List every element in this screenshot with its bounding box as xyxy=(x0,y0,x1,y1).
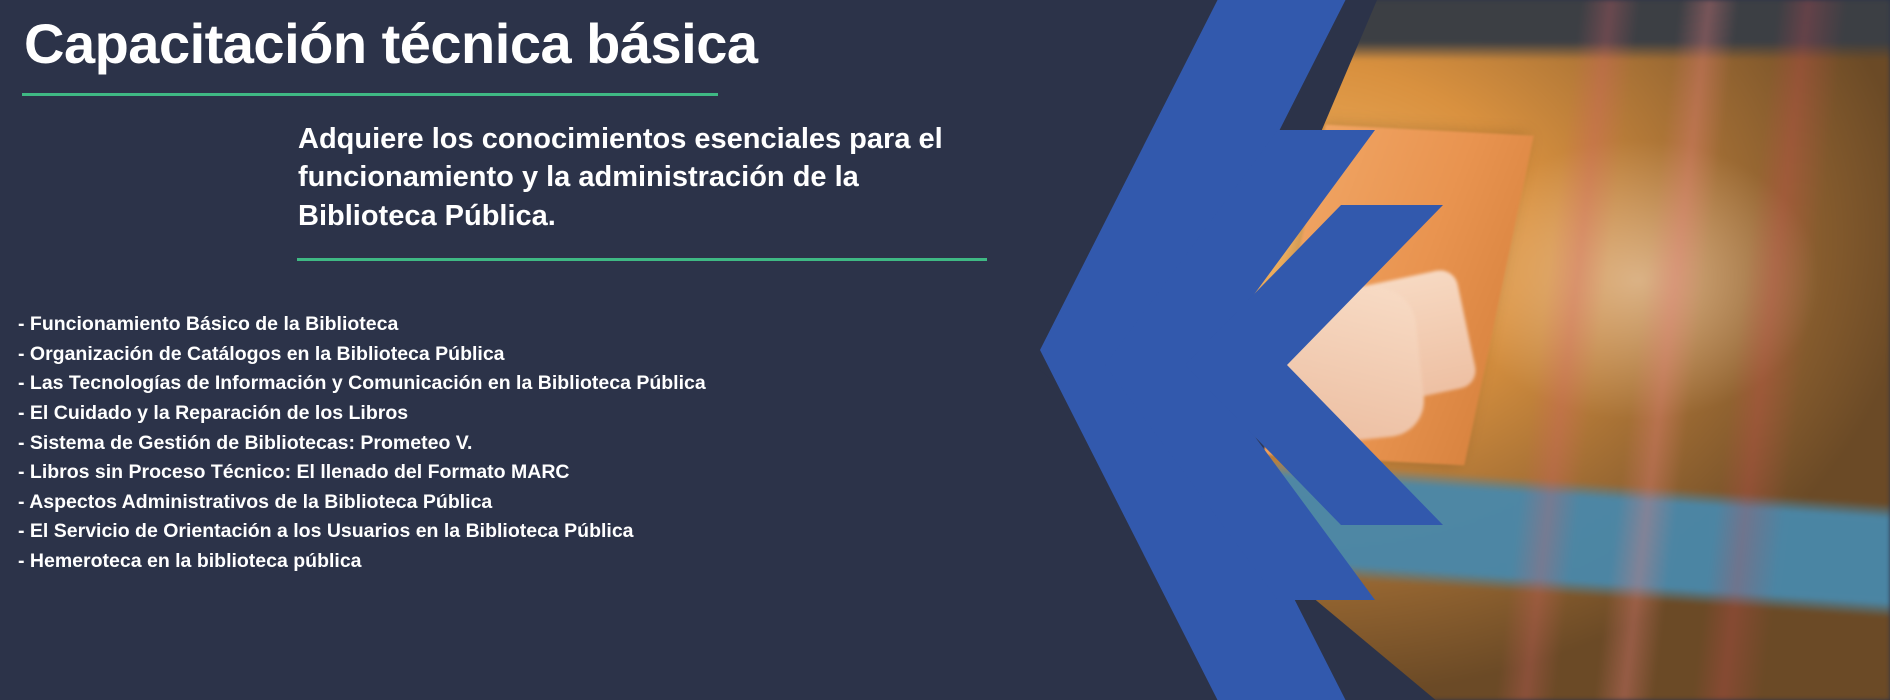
page-title: Capacitación técnica básica xyxy=(24,12,758,76)
list-item: - Funcionamiento Básico de la Biblioteca xyxy=(18,310,706,340)
list-item: - El Servicio de Orientación a los Usuar… xyxy=(18,517,706,547)
banner-subtitle: Adquiere los conocimientos esenciales pa… xyxy=(298,120,998,235)
subtitle-divider xyxy=(297,258,987,261)
course-banner: Capacitación técnica básica Adquiere los… xyxy=(0,0,1890,700)
subtitle-line: funcionamiento y la administración de la xyxy=(298,158,998,196)
list-item: - Libros sin Proceso Técnico: El llenado… xyxy=(18,458,706,488)
topic-list: - Funcionamiento Básico de la Biblioteca… xyxy=(18,310,706,577)
subtitle-line: Adquiere los conocimientos esenciales pa… xyxy=(298,120,998,158)
list-item: - Aspectos Administrativos de la Bibliot… xyxy=(18,488,706,518)
list-item: - El Cuidado y la Reparación de los Libr… xyxy=(18,399,706,429)
subtitle-line: Biblioteca Pública. xyxy=(298,197,998,235)
title-divider xyxy=(22,93,718,96)
list-item: - Organización de Catálogos en la Biblio… xyxy=(18,340,706,370)
list-item: - Hemeroteca en la biblioteca pública xyxy=(18,547,706,577)
banner-content: Capacitación técnica básica Adquiere los… xyxy=(0,0,1890,700)
list-item: - Sistema de Gestión de Bibliotecas: Pro… xyxy=(18,429,706,459)
list-item: - Las Tecnologías de Información y Comun… xyxy=(18,369,706,399)
